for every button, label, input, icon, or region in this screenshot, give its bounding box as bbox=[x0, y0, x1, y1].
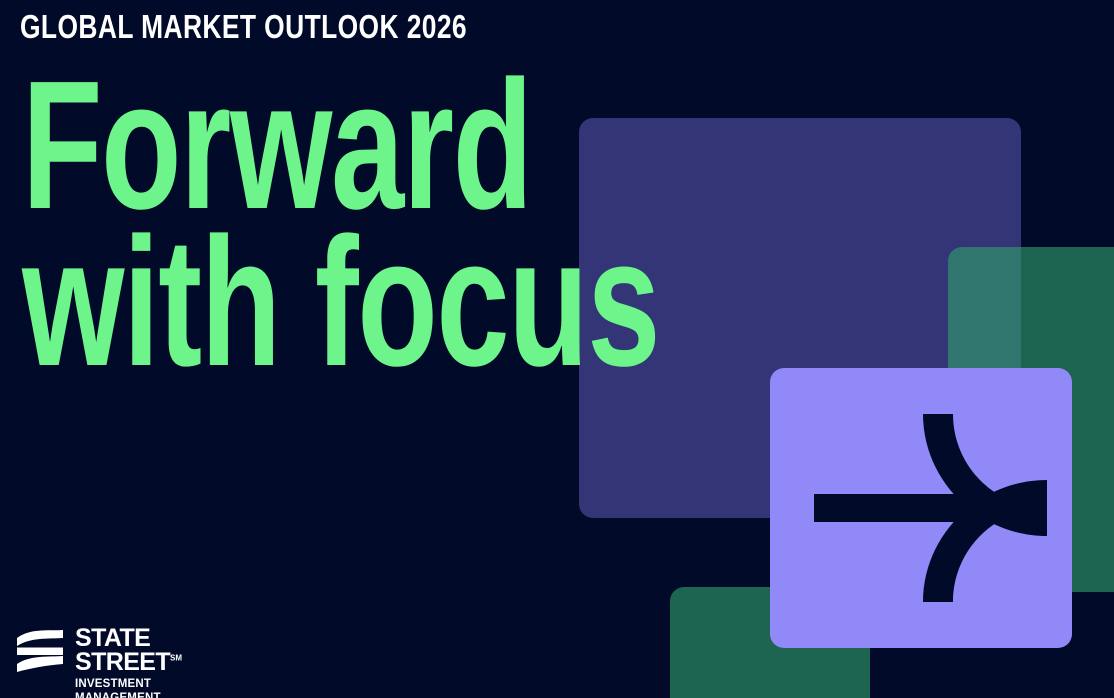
logo-subtitle-line-2: MANAGEMENT bbox=[75, 692, 182, 698]
logo-name-line-1: STATE bbox=[75, 626, 182, 650]
presentation-slide: GLOBAL MARKET OUTLOOK 2026 Forward with … bbox=[0, 0, 1114, 698]
logo-name-line-2: STREET bbox=[75, 648, 170, 676]
eyebrow-title: GLOBAL MARKET OUTLOOK 2026 bbox=[20, 10, 467, 43]
logo-name-line-2-wrap: STREETSM bbox=[75, 650, 182, 674]
logo-subtitle-line-1: INVESTMENT bbox=[75, 678, 182, 692]
forward-arrow-card bbox=[770, 368, 1072, 648]
logo-wordmark: STATE STREETSM INVESTMENT MANAGEMENT bbox=[75, 626, 182, 698]
state-street-bars-icon bbox=[16, 629, 64, 673]
forward-arrow-icon bbox=[814, 414, 1047, 602]
page-title: Forward with focus bbox=[22, 66, 659, 381]
headline-line-2: with focus bbox=[22, 223, 659, 380]
state-street-logo: STATE STREETSM INVESTMENT MANAGEMENT bbox=[16, 626, 182, 698]
logo-trademark: SM bbox=[170, 654, 182, 663]
